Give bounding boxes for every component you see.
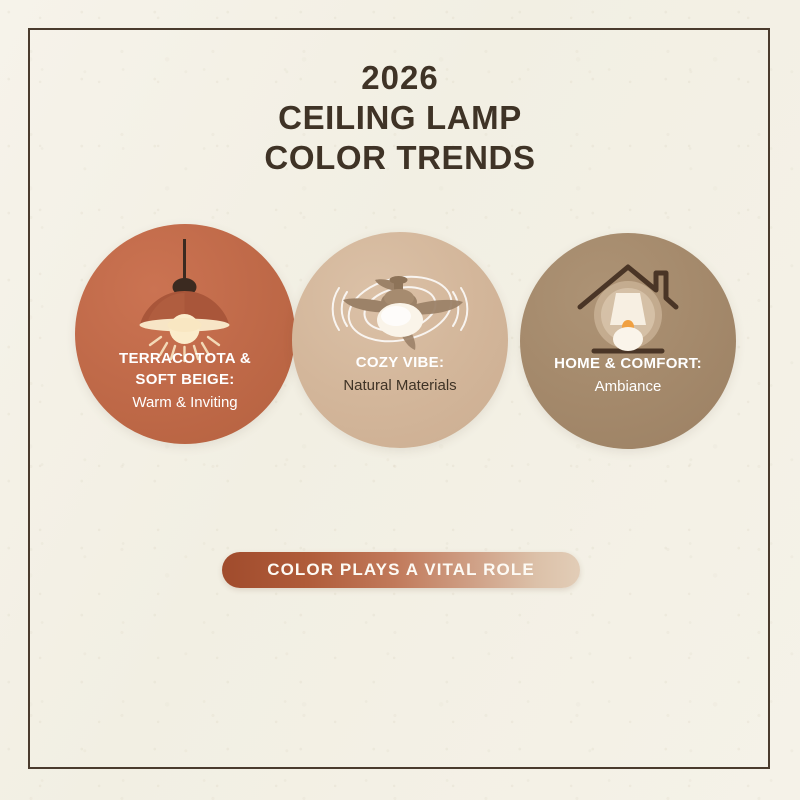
trend-labels-terracotta: TERRACOTOTA & SOFT BEIGE: Warm & Invitin… xyxy=(83,348,287,413)
trend-subtitle: Ambiance xyxy=(528,376,728,397)
trend-circles-row: TERRACOTOTA & SOFT BEIGE: Warm & Invitin… xyxy=(0,0,800,800)
trend-labels-home: HOME & COMFORT: Ambiance xyxy=(528,353,728,397)
trend-title-line2: SOFT BEIGE: xyxy=(83,369,287,390)
call-to-action-banner[interactable]: COLOR PLAYS A VITAL ROLE xyxy=(222,552,580,588)
trend-labels-cozy: COZY VIBE: Natural Materials xyxy=(300,352,500,396)
trend-subtitle: Natural Materials xyxy=(300,375,500,396)
banner-text: COLOR PLAYS A VITAL ROLE xyxy=(267,560,535,580)
trend-card-cozy[interactable]: COZY VIBE: Natural Materials xyxy=(292,232,508,448)
trend-title-line1: HOME & COMFORT: xyxy=(528,353,728,374)
trend-card-home[interactable]: HOME & COMFORT: Ambiance xyxy=(520,233,736,449)
trend-title-line1: TERRACOTOTA & xyxy=(83,348,287,369)
trend-subtitle: Warm & Inviting xyxy=(83,392,287,413)
trend-card-terracotta[interactable]: TERRACOTOTA & SOFT BEIGE: Warm & Invitin… xyxy=(75,224,295,444)
trend-title-line1: COZY VIBE: xyxy=(300,352,500,373)
